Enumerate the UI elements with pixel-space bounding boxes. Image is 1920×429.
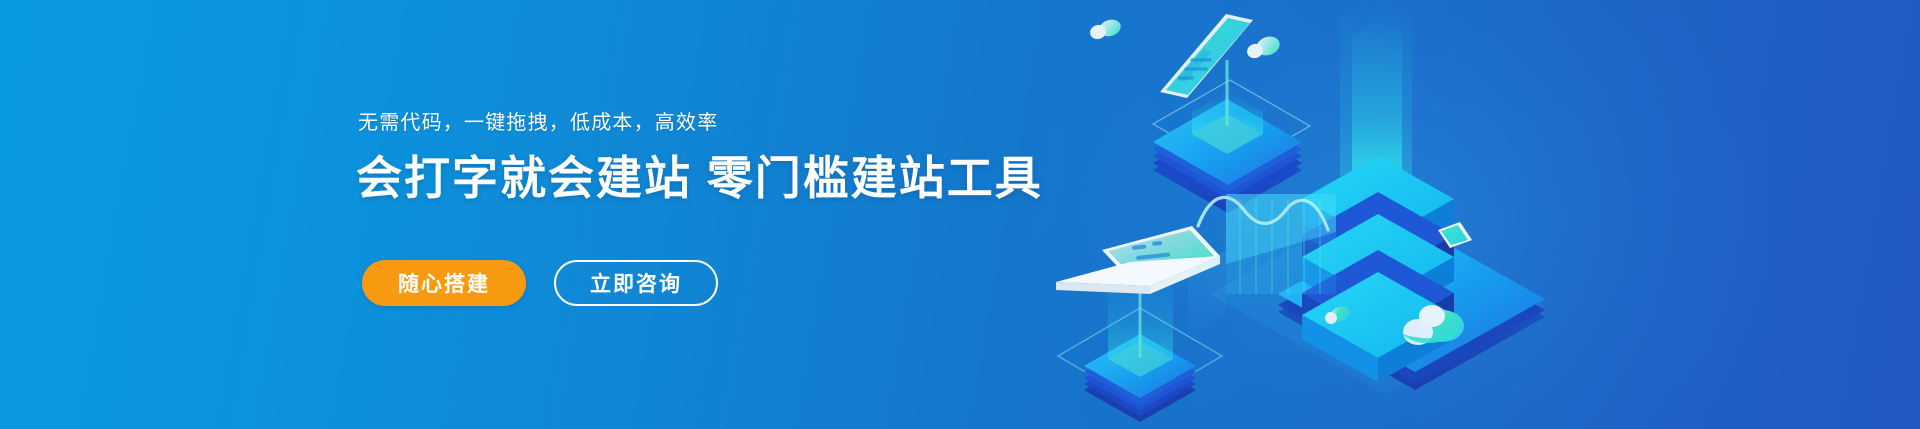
hero-headline: 会打字就会建站 零门槛建站工具 <box>356 142 1043 208</box>
hero-subtitle: 无需代码，一键拖拽，低成本，高效率 <box>358 106 718 135</box>
hero-content: 无需代码，一键拖拽，低成本，高效率 会打字就会建站 零门槛建站工具 随心搭建 立… <box>358 0 1118 429</box>
monitor-platform-group <box>1153 14 1310 213</box>
hero-banner: 无需代码，一键拖拽，低成本，高效率 会打字就会建站 零门槛建站工具 随心搭建 立… <box>0 0 1920 429</box>
build-now-button[interactable]: 随心搭建 <box>362 260 526 306</box>
hero-button-row: 随心搭建 立即咨询 <box>362 260 718 306</box>
cloud-icon-mid <box>1245 33 1282 60</box>
consult-now-button[interactable]: 立即咨询 <box>554 260 718 306</box>
hero-illustration <box>1040 0 1560 429</box>
